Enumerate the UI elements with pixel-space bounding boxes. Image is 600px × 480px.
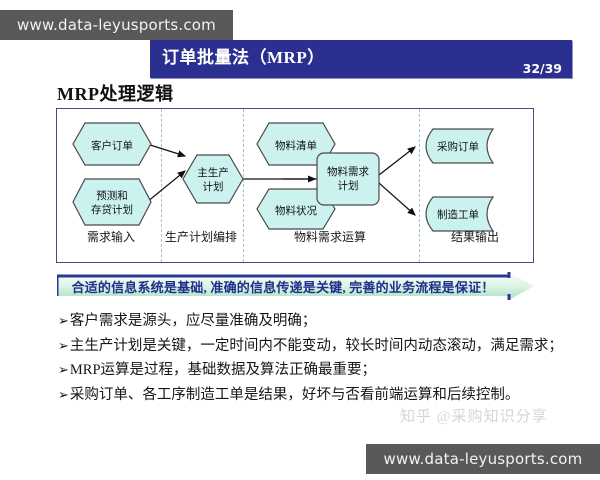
node-bom-label: 物料清单 <box>275 139 317 152</box>
node-manufacture-order: 制造工单 <box>426 197 493 231</box>
summary-bullet-list: ➢ 客户需求是源头，应尽量准确及明确； ➢ 主生产计划是关键，一定时间内不能变动… <box>58 312 578 410</box>
page-title: 订单批量法（MRP） <box>162 43 325 68</box>
section-heading: MRP处理逻辑 <box>57 80 173 106</box>
list-item: ➢ 客户需求是源头，应尽量准确及明确； <box>58 312 578 331</box>
watermark-url-top-text: www.data-leyusports.com <box>17 16 216 34</box>
list-item: ➢ 采购订单、各工序制造工单是结果，好坏与否看前端运算和后续控制。 <box>58 386 578 405</box>
phase-label-demand-input: 需求输入 <box>66 228 156 245</box>
key-message-text: 合适的信息系统是基础, 准确的信息传递是关键, 完善的业务流程是保证！ <box>57 272 509 300</box>
node-forecast-stock-label-2: 存贷计划 <box>91 203 133 216</box>
node-customer-order: 客户订单 <box>73 123 151 165</box>
phase-label-production-plan: 生产计划编排 <box>160 228 242 245</box>
phase-label-result-output: 结果输出 <box>418 228 532 245</box>
bullet-arrow-icon: ➢ <box>58 312 69 330</box>
phase-label-material-calc: 物料需求运算 <box>242 228 418 245</box>
node-mrp-plan-label-2: 计划 <box>338 179 359 192</box>
node-forecast-stock: 预测和 存贷计划 <box>73 179 151 225</box>
node-mrp-plan-label-1: 物料需求 <box>327 165 369 178</box>
node-purchase-order: 采购订单 <box>426 129 493 163</box>
list-item: ➢ MRP运算是过程，基础数据及算法正确最重要； <box>58 361 578 380</box>
node-material-status-label: 物料状况 <box>275 204 317 217</box>
list-item-text: MRP运算是过程，基础数据及算法正确最重要； <box>70 361 376 380</box>
node-master-schedule-label-1: 主生产 <box>197 166 229 179</box>
bullet-arrow-icon: ➢ <box>58 337 69 355</box>
node-customer-order-label: 客户订单 <box>91 139 133 152</box>
list-item: ➢ 主生产计划是关键，一定时间内不能变动，较长时间内动态滚动，满足需求； <box>58 337 578 356</box>
node-purchase-order-label: 采购订单 <box>437 140 479 153</box>
watermark-url-bottom-text: www.data-leyusports.com <box>384 450 583 468</box>
list-item-text: 主生产计划是关键，一定时间内不能变动，较长时间内动态滚动，满足需求； <box>70 337 563 356</box>
watermark-url-bottom: www.data-leyusports.com <box>366 444 600 474</box>
page-number-badge: 32/39 <box>523 61 562 76</box>
list-item-text: 客户需求是源头，应尽量准确及明确； <box>70 312 317 331</box>
bullet-arrow-icon: ➢ <box>58 361 69 379</box>
node-master-schedule: 主生产 计划 <box>183 155 243 203</box>
phase-label-row: 需求输入 生产计划编排 物料需求运算 结果输出 <box>56 228 534 262</box>
bullet-arrow-icon: ➢ <box>58 386 69 404</box>
watermark-url-top: www.data-leyusports.com <box>0 10 233 40</box>
node-forecast-stock-label-1: 预测和 <box>96 189 128 202</box>
node-manufacture-order-label: 制造工单 <box>437 208 479 221</box>
slide-title-bar: 订单批量法（MRP） 32/39 <box>150 40 572 78</box>
list-item-text: 采购订单、各工序制造工单是结果，好坏与否看前端运算和后续控制。 <box>70 386 520 405</box>
key-message-banner: 合适的信息系统是基础, 准确的信息传递是关键, 完善的业务流程是保证！ <box>57 272 534 300</box>
zhihu-watermark: 知乎 @采购知识分享 <box>400 405 548 426</box>
node-mrp-plan: 物料需求 计划 <box>317 153 379 205</box>
node-master-schedule-label-2: 计划 <box>203 180 224 193</box>
